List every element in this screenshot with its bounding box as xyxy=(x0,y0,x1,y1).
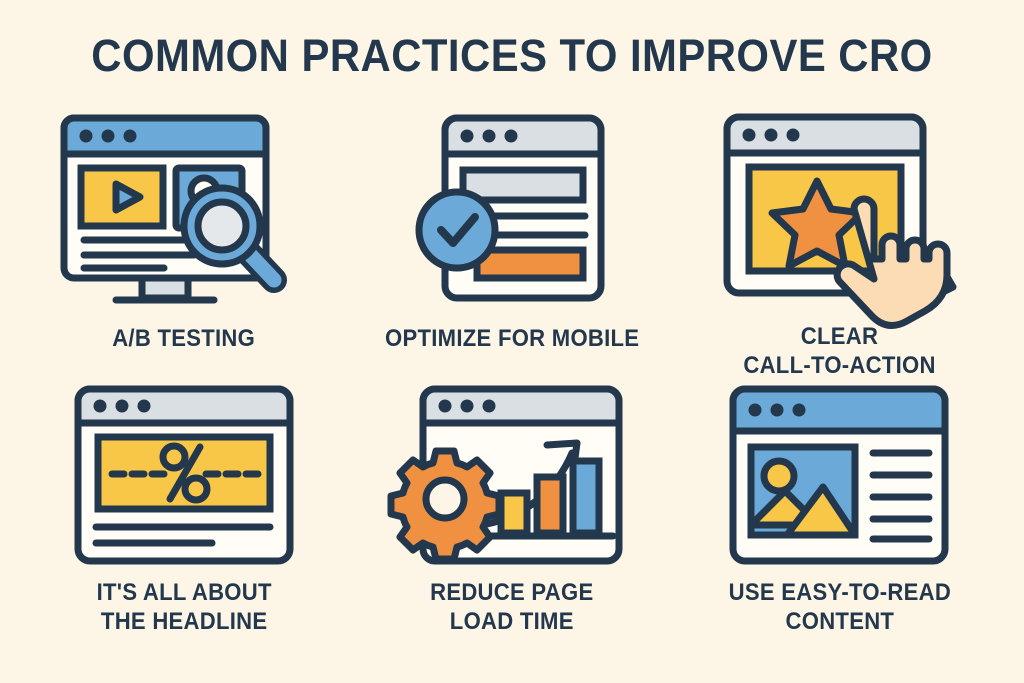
practices-grid: A/B TESTING xyxy=(20,108,1004,652)
caption-line: OPTIMIZE FOR MOBILE xyxy=(385,324,639,353)
monitor-with-magnifier-icon xyxy=(34,108,334,318)
window-dots xyxy=(94,400,151,413)
browser-with-image-and-text-icon xyxy=(690,380,990,572)
window-dots xyxy=(749,404,806,417)
caption-line: IT'S ALL ABOUT xyxy=(96,578,271,607)
card-use-easy-to-read-content: USE EASY-TO-READ CONTENT xyxy=(676,380,1004,652)
card-caption: OPTIMIZE FOR MOBILE xyxy=(385,324,639,353)
card-ab-testing: A/B TESTING xyxy=(20,108,348,380)
card-caption: A/B TESTING xyxy=(113,324,256,353)
card-optimize-for-mobile: OPTIMIZE FOR MOBILE xyxy=(348,108,676,380)
caption-line: A/B TESTING xyxy=(113,324,256,353)
gear-icon xyxy=(391,451,499,559)
image-placeholder xyxy=(751,447,855,535)
caption-line: CLEAR xyxy=(744,322,936,351)
card-caption: IT'S ALL ABOUT THE HEADLINE xyxy=(96,578,271,636)
window-dots xyxy=(439,400,496,413)
sun-icon xyxy=(764,461,794,491)
card-caption: USE EASY-TO-READ CONTENT xyxy=(729,578,951,636)
caption-line: USE EASY-TO-READ xyxy=(729,578,951,607)
caption-line: REDUCE PAGE xyxy=(430,578,593,607)
card-its-all-about-the-headline: IT'S ALL ABOUT THE HEADLINE xyxy=(20,380,348,652)
infographic-canvas: COMMON PRACTICES TO IMPROVE CRO xyxy=(0,0,1024,683)
bar-3 xyxy=(573,461,599,533)
card-clear-call-to-action: CLEAR CALL-TO-ACTION xyxy=(676,108,1004,380)
page-title: COMMON PRACTICES TO IMPROVE CRO xyxy=(36,30,988,82)
card-caption: REDUCE PAGE LOAD TIME xyxy=(430,578,593,636)
caption-line: LOAD TIME xyxy=(430,607,593,636)
bar-2 xyxy=(537,477,563,533)
browser-with-gear-and-chart-icon xyxy=(362,380,662,572)
caption-line: CALL-TO-ACTION xyxy=(744,351,936,380)
caption-line: CONTENT xyxy=(729,607,951,636)
bar-1 xyxy=(501,493,527,533)
window-dots xyxy=(742,129,799,142)
window-dots xyxy=(80,130,137,143)
browser-with-percent-banner-icon xyxy=(34,380,334,572)
caption-line: THE HEADLINE xyxy=(96,607,271,636)
card-reduce-page-load-time: REDUCE PAGE LOAD TIME xyxy=(348,380,676,652)
window-dots xyxy=(461,130,518,143)
browser-with-checkmark-icon xyxy=(362,108,662,318)
card-caption: CLEAR CALL-TO-ACTION xyxy=(744,322,936,380)
browser-with-star-and-hand-icon xyxy=(690,108,990,316)
